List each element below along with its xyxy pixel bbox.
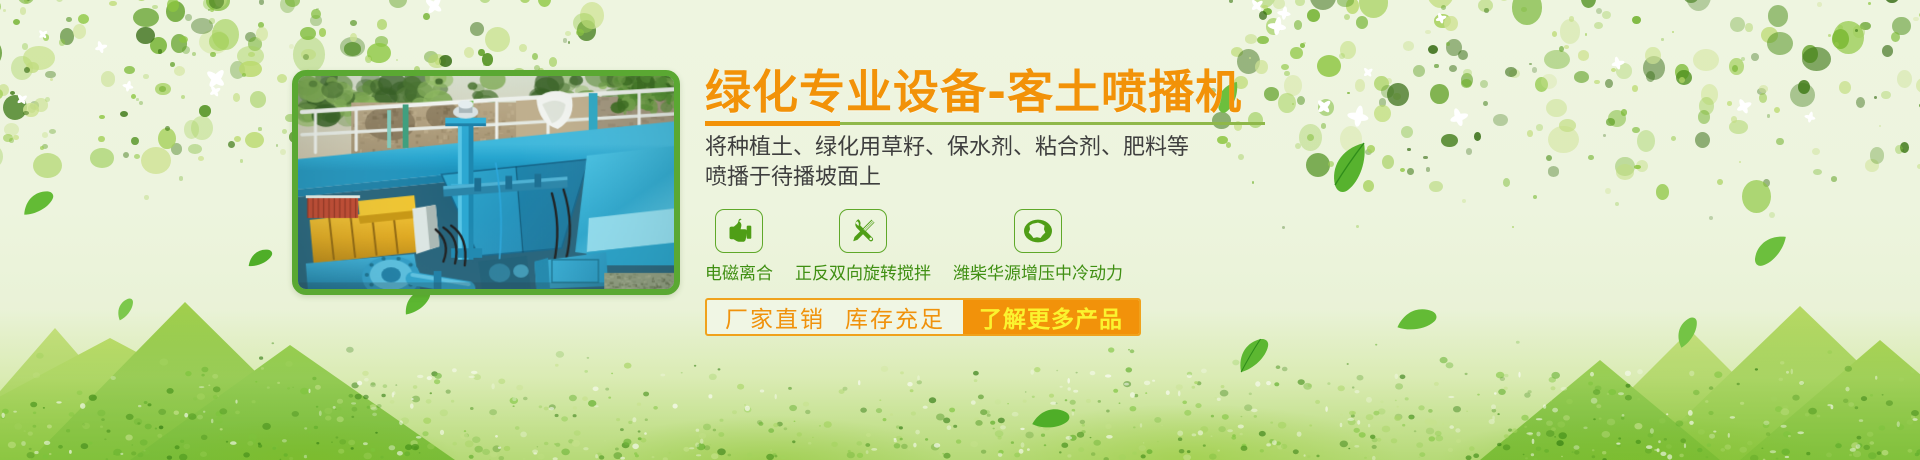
- flower-icon: [1434, 10, 1448, 24]
- cta-slogans: 厂家直销 库存充足: [707, 300, 963, 334]
- cta-slogan-2: 库存充足: [845, 300, 945, 334]
- flower-icon: [1803, 111, 1817, 125]
- learn-more-button[interactable]: 了解更多产品: [963, 300, 1139, 334]
- feature-item-electromagnetic-clutch: 电磁离合: [705, 209, 773, 284]
- grass-speckle-decoration: [0, 340, 1920, 460]
- banner-subtitle: 将种植土、绿化用草籽、保水剂、粘合剂、肥料等 喷播于待播坡面上: [705, 133, 1505, 192]
- flower-icon: [93, 39, 109, 55]
- title-divider-accent: [705, 121, 840, 126]
- thumbs-up-icon: [725, 218, 753, 244]
- feature-item-bidirectional-mixing: 正反双向旋转搅拌: [795, 209, 931, 284]
- promo-banner: 绿化专业设备-客土喷播机 将种植土、绿化用草籽、保水剂、粘合剂、肥料等 喷播于待…: [0, 0, 1920, 460]
- flower-icon: [1248, 0, 1267, 14]
- feature-label: 潍柴华源增压中冷动力: [953, 259, 1123, 284]
- feature-label: 电磁离合: [705, 259, 773, 284]
- tools-icon: [849, 217, 877, 245]
- title-divider: [705, 122, 1265, 125]
- cta-slogan-1: 厂家直销: [725, 300, 825, 334]
- page-title: 绿化专业设备-客土喷播机: [705, 68, 1505, 116]
- feature-icon-frame: [839, 209, 887, 253]
- flower-icon: [421, 0, 447, 18]
- product-photo-canvas: [298, 76, 674, 289]
- flower-icon: [207, 83, 223, 99]
- flower-icon: [1733, 96, 1754, 117]
- flower-icon: [1266, 16, 1287, 37]
- flower-icon: [1276, 6, 1291, 21]
- flower-icon: [36, 26, 50, 40]
- flower-icon: [1610, 55, 1626, 71]
- feature-label: 正反双向旋转搅拌: [795, 259, 931, 284]
- flower-icon: [14, 91, 30, 107]
- flower-icon: [202, 64, 231, 93]
- flower-icon: [121, 79, 134, 92]
- banner-copy: 绿化专业设备-客土喷播机 将种植土、绿化用草籽、保水剂、粘合剂、肥料等 喷播于待…: [705, 68, 1505, 336]
- cta-bar[interactable]: 厂家直销 库存充足 了解更多产品: [705, 298, 1141, 336]
- feature-list: 电磁离合 正反双向旋转搅拌: [705, 209, 1505, 284]
- product-photo: [292, 70, 680, 295]
- feature-item-weichai-power: 潍柴华源增压中冷动力: [953, 209, 1123, 284]
- feature-icon-frame: [715, 209, 763, 253]
- feature-icon-frame: [1014, 209, 1062, 253]
- gear-icon: [1023, 218, 1053, 244]
